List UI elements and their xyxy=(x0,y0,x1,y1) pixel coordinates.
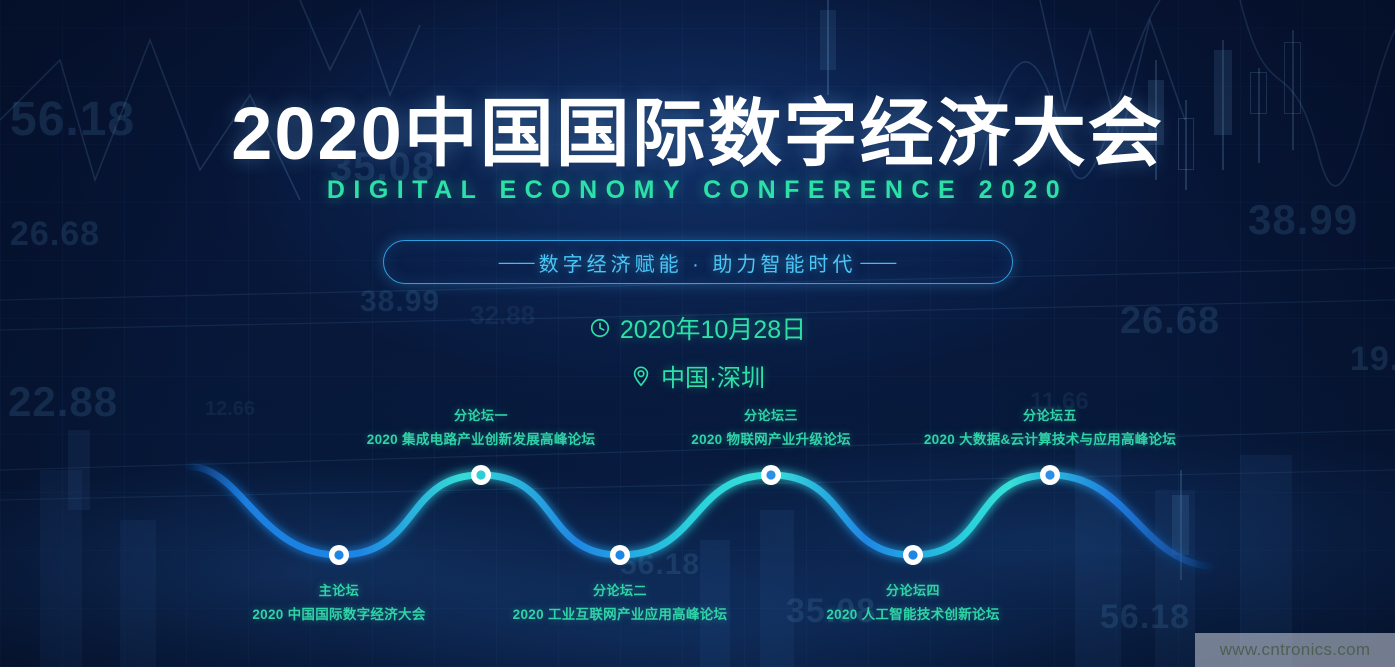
clock-icon xyxy=(589,317,611,339)
watermark: www.cntronics.com xyxy=(1195,633,1395,667)
forum-label[interactable]: 分论坛三2020 物联网产业升级论坛 xyxy=(691,405,850,448)
forum-label-desc: 2020 大数据&云计算技术与应用高峰论坛 xyxy=(924,428,1176,448)
slogan-dash-right: —— xyxy=(856,252,900,273)
watermark-text: www.cntronics.com xyxy=(1220,640,1371,660)
forum-label[interactable]: 分论坛四2020 人工智能技术创新论坛 xyxy=(826,580,999,623)
slogan-text: 数字经济赋能 · 助力智能时代 xyxy=(539,248,857,277)
event-location-text: 中国·深圳 xyxy=(661,358,765,393)
slogan-dash-left: —— xyxy=(495,252,539,273)
forum-label-name: 分论坛四 xyxy=(826,580,999,599)
forum-label[interactable]: 主论坛2020 中国国际数字经济大会 xyxy=(252,580,425,623)
conference-poster: 56.1826.6822.8835.0838.9932.8838.9926.68… xyxy=(0,0,1395,667)
map-pin-icon xyxy=(630,365,652,387)
forum-label-desc: 2020 工业互联网产业应用高峰论坛 xyxy=(513,603,728,623)
page-title: 2020中国国际数字经济大会 xyxy=(0,74,1395,181)
forum-label-name: 主论坛 xyxy=(252,580,425,599)
forum-label-name: 分论坛五 xyxy=(924,405,1176,424)
page-subtitle: DIGITAL ECONOMY CONFERENCE 2020 xyxy=(0,176,1395,205)
forum-label[interactable]: 分论坛一2020 集成电路产业创新发展高峰论坛 xyxy=(367,405,595,448)
forum-label-desc: 2020 集成电路产业创新发展高峰论坛 xyxy=(367,428,595,448)
forum-label-desc: 2020 人工智能技术创新论坛 xyxy=(826,603,999,623)
forum-label[interactable]: 分论坛五2020 大数据&云计算技术与应用高峰论坛 xyxy=(924,405,1176,448)
slogan-banner: —— 数字经济赋能 · 助力智能时代 —— xyxy=(383,240,1013,284)
forum-label[interactable]: 分论坛二2020 工业互联网产业应用高峰论坛 xyxy=(513,580,728,623)
event-location: 中国·深圳 xyxy=(0,358,1395,393)
forum-wave-diagram: 主论坛2020 中国国际数字经济大会分论坛一2020 集成电路产业创新发展高峰论… xyxy=(0,395,1395,635)
forum-label-desc: 2020 物联网产业升级论坛 xyxy=(691,428,850,448)
forum-label-desc: 2020 中国国际数字经济大会 xyxy=(252,603,425,623)
forum-label-name: 分论坛一 xyxy=(367,405,595,424)
event-date-text: 2020年10月28日 xyxy=(620,310,806,346)
forum-label-name: 分论坛三 xyxy=(691,405,850,424)
forum-label-name: 分论坛二 xyxy=(513,580,728,599)
event-date: 2020年10月28日 xyxy=(0,310,1395,346)
